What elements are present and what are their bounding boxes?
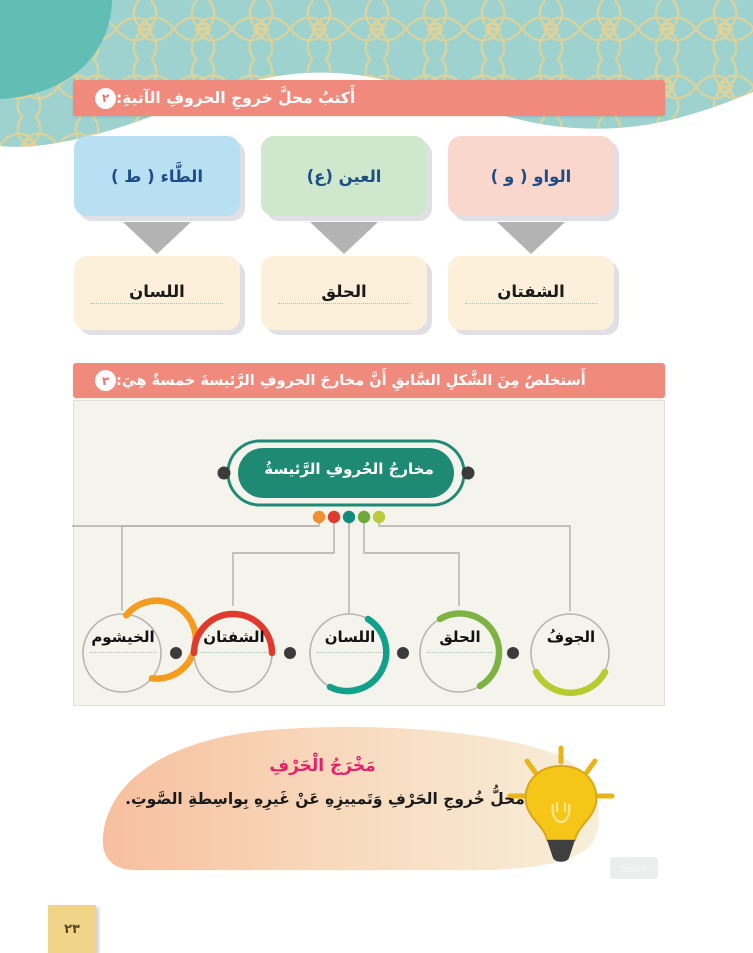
decorative-header-band	[0, 0, 753, 150]
letter-card-waw[interactable]: الواو ( و )	[448, 136, 614, 216]
arrow-down-icon-waw	[497, 222, 565, 254]
page-number-tab: ٢٣	[48, 905, 96, 953]
info-text: محلُّ خُروجِ الحَرْفِ وَتَمييزِهِ عَنْ غ…	[105, 790, 545, 808]
node-line-al-lisan	[317, 652, 383, 653]
arrow-down-icon-taa	[123, 222, 191, 254]
letter-card-label: الطَّاء ( ط )	[111, 167, 203, 186]
save-button[interactable]: Save	[610, 857, 658, 879]
answer-writing-line	[91, 303, 223, 304]
info-callout: مَخْرَجُ الْحَرْفِ محلُّ خُروجِ الحَرْفِ…	[95, 718, 675, 883]
question-3-text: أَستخلصُ مِنَ الشَّكلِ السَّابقِ أَنَّ م…	[116, 373, 586, 389]
answer-box-text: الحلق	[321, 282, 366, 301]
letter-card-label: العين (ع)	[307, 167, 382, 186]
node-line-al-khayshum	[90, 652, 156, 653]
question-3-header: ٣ أَستخلصُ مِنَ الشَّكلِ السَّابقِ أَنَّ…	[73, 363, 665, 398]
arrow-down-icon-ain	[310, 222, 378, 254]
answer-box-text: اللسان	[129, 282, 185, 301]
answer-box-shafatan[interactable]: الشفتان	[448, 256, 614, 330]
answer-writing-line	[465, 303, 597, 304]
letter-card-ain[interactable]: العين (ع)	[261, 136, 427, 216]
mind-map-panel	[73, 400, 665, 706]
node-line-ash-shafatan	[201, 652, 267, 653]
question-3-number: ٣	[95, 370, 116, 391]
info-title: مَخْرَجُ الْحَرْفِ	[95, 756, 550, 776]
question-2-number: ٢	[95, 88, 116, 109]
question-2-header: ٢ أَكتبُ محلَّ خروجِ الحروفِ الآتيةِ:	[73, 80, 665, 116]
answer-box-halq[interactable]: الحلق	[261, 256, 427, 330]
letter-card-label: الواو ( و )	[491, 167, 572, 186]
answer-box-text: الشفتان	[497, 282, 565, 301]
node-line-al-halq	[427, 652, 493, 653]
answer-box-lisan[interactable]: اللسان	[74, 256, 240, 330]
letter-card-taa[interactable]: الطَّاء ( ط )	[74, 136, 240, 216]
answer-writing-line	[278, 303, 410, 304]
question-2-text: أَكتبُ محلَّ خروجِ الحروفِ الآتيةِ:	[116, 89, 355, 107]
worksheet-page: ٢ أَكتبُ محلَّ خروجِ الحروفِ الآتيةِ: ال…	[0, 0, 753, 953]
